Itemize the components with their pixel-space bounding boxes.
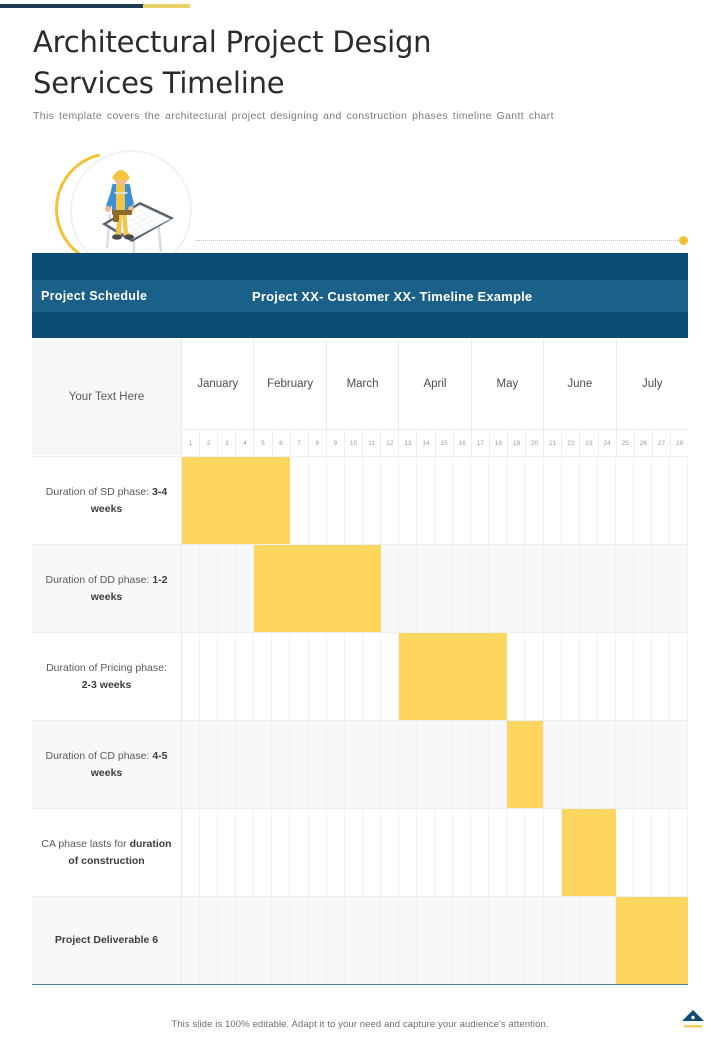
- gantt-week-cell: 20: [526, 430, 544, 456]
- gantt-track-cell: [254, 897, 272, 984]
- gantt-row-label: Project Deliverable 6: [32, 896, 182, 984]
- gantt-track-cell: [544, 545, 562, 632]
- gantt-track-cell: [580, 633, 598, 720]
- gantt-track-cell: [453, 809, 471, 896]
- accent-segment-gold: [143, 4, 190, 8]
- gantt-track-cell: [435, 897, 453, 984]
- gantt-week-cell: 5: [254, 430, 272, 456]
- gantt-track-cell: [634, 545, 652, 632]
- gantt-track-cell: [471, 897, 489, 984]
- connector-dashes: [196, 240, 680, 241]
- gantt-track-cell: [616, 633, 634, 720]
- gantt-week-cell: 13: [399, 430, 417, 456]
- gantt-track-cell: [381, 545, 399, 632]
- gantt-track-cell: [363, 457, 381, 544]
- gantt-track-cell: [363, 809, 381, 896]
- gantt-row-label-text: Duration of DD phase:: [46, 574, 150, 586]
- gantt-track-cell: [345, 633, 363, 720]
- gantt-track-cell: [580, 897, 598, 984]
- gantt-track-cell: [489, 721, 507, 808]
- gantt-week-cell: 26: [635, 430, 653, 456]
- gantt-track-cell: [634, 633, 652, 720]
- gantt-month-cell: July: [617, 339, 688, 429]
- gantt-row: Duration of CD phase: 4-5 weeks: [32, 720, 688, 808]
- gantt-track-cell: [345, 897, 363, 984]
- gantt-track-cell: [254, 721, 272, 808]
- gantt-track-cell: [580, 545, 598, 632]
- gantt-track-cell: [363, 633, 381, 720]
- gantt-week-cell: 27: [653, 430, 671, 456]
- gantt-week-cell: 9: [327, 430, 345, 456]
- gantt-track-cell: [562, 633, 580, 720]
- gantt-track-cell: [218, 897, 236, 984]
- gantt-track-cell: [345, 457, 363, 544]
- gantt-week-cell: 17: [472, 430, 490, 456]
- gantt-track-cell: [200, 633, 218, 720]
- gantt-body: Duration of SD phase: 3-4 weeksDuration …: [32, 456, 688, 985]
- gantt-track-cell: [489, 545, 507, 632]
- gantt-month-cell: April: [399, 339, 471, 429]
- gantt-track-cell: [562, 545, 580, 632]
- accent-segment-navy: [0, 4, 143, 8]
- gantt-track-cell: [290, 897, 308, 984]
- gantt-row-track: [182, 896, 688, 984]
- gantt-track-cell: [309, 721, 327, 808]
- gantt-track-cell: [652, 545, 670, 632]
- gantt-track-cell: [598, 633, 616, 720]
- gantt-track-cell: [544, 897, 562, 984]
- gantt-track-cell: [525, 809, 543, 896]
- gantt-chart: Your Text Here JanuaryFebruaryMarchApril…: [32, 339, 688, 985]
- gantt-track-cell: [507, 545, 525, 632]
- gantt-track-cell: [489, 809, 507, 896]
- gantt-track-cell: [616, 721, 634, 808]
- gantt-track-cell: [290, 809, 308, 896]
- gantt-track-cell: [652, 633, 670, 720]
- gantt-track-cell: [670, 721, 688, 808]
- gantt-track-cell: [309, 633, 327, 720]
- gantt-track-cell: [182, 633, 200, 720]
- gantt-track-cell: [290, 721, 308, 808]
- top-accent-bar: [0, 4, 190, 8]
- gantt-week-cell: 16: [454, 430, 472, 456]
- gantt-bar[interactable]: [507, 721, 543, 808]
- gantt-track-cell: [218, 809, 236, 896]
- gantt-track-cell: [272, 721, 290, 808]
- gantt-track-cell: [471, 721, 489, 808]
- gantt-row-label: Duration of CD phase: 4-5 weeks: [32, 720, 182, 808]
- gantt-track-cell: [309, 897, 327, 984]
- gantt-track-cell: [182, 809, 200, 896]
- gantt-track-cell: [345, 721, 363, 808]
- footer-note: This slide is 100% editable. Adapt it to…: [0, 1019, 720, 1030]
- gantt-week-cell: 19: [508, 430, 526, 456]
- gantt-row-label-text: Duration of Pricing phase:: [46, 662, 167, 674]
- gantt-track-cell: [453, 721, 471, 808]
- gantt-track-cell: [327, 809, 345, 896]
- gantt-month-cell: May: [472, 339, 544, 429]
- gantt-track-cell: [218, 633, 236, 720]
- gantt-track-cell: [381, 633, 399, 720]
- gantt-track-cell: [453, 897, 471, 984]
- gantt-track-cell: [200, 809, 218, 896]
- gantt-track-cell: [525, 457, 543, 544]
- page-title-line-1: Architectural Project Design: [33, 25, 431, 59]
- gantt-track-cell: [598, 545, 616, 632]
- gantt-row-track: [182, 632, 688, 720]
- gantt-time-header: JanuaryFebruaryMarchAprilMayJuneJuly 123…: [182, 339, 688, 456]
- gantt-track-cell: [525, 633, 543, 720]
- gantt-track-cell: [507, 457, 525, 544]
- gantt-track-cell: [670, 809, 688, 896]
- banner-project-schedule-label: Project Schedule: [32, 289, 252, 303]
- gantt-week-cell: 18: [490, 430, 508, 456]
- gantt-track-cell: [634, 457, 652, 544]
- gantt-track-cell: [670, 545, 688, 632]
- gantt-track-cell: [670, 457, 688, 544]
- gantt-week-cell: 28: [671, 430, 688, 456]
- gantt-month-cell: June: [544, 339, 616, 429]
- gantt-track-cell: [562, 721, 580, 808]
- gantt-month-cell: January: [182, 339, 254, 429]
- gantt-track-cell: [399, 809, 417, 896]
- gantt-row-label-text: Duration of CD phase:: [46, 750, 150, 762]
- gantt-track-cell: [399, 457, 417, 544]
- gantt-track-cell: [453, 545, 471, 632]
- gantt-track-cell: [218, 721, 236, 808]
- gantt-week-cell: 25: [617, 430, 635, 456]
- gantt-track-cell: [471, 457, 489, 544]
- gantt-track-cell: [363, 897, 381, 984]
- gantt-track-cell: [580, 457, 598, 544]
- gantt-track-cell: [616, 457, 634, 544]
- gantt-row-label-text: CA phase lasts for: [41, 838, 126, 850]
- page-subtitle: This template covers the architectural p…: [33, 110, 690, 122]
- gantt-week-cell: 7: [291, 430, 309, 456]
- gantt-bar[interactable]: [562, 809, 616, 896]
- gantt-track-cell: [290, 633, 308, 720]
- gantt-week-cell: 21: [544, 430, 562, 456]
- gantt-track-cell: [417, 809, 435, 896]
- gantt-track-cell: [200, 897, 218, 984]
- gantt-track-cell: [272, 809, 290, 896]
- gantt-track-cell: [489, 457, 507, 544]
- illustration: [55, 150, 215, 260]
- gantt-week-cell: 4: [236, 430, 254, 456]
- gantt-track-cell: [309, 457, 327, 544]
- gantt-row: Project Deliverable 6: [32, 896, 688, 984]
- gantt-track-cell: [417, 897, 435, 984]
- gantt-bar[interactable]: [399, 633, 507, 720]
- gantt-track-cell: [544, 809, 562, 896]
- gantt-track-cell: [218, 545, 236, 632]
- gantt-track-cell: [236, 545, 254, 632]
- gantt-track-cell: [453, 457, 471, 544]
- gantt-track-cell: [236, 809, 254, 896]
- gantt-week-cell: 1: [182, 430, 200, 456]
- gantt-track-cell: [652, 721, 670, 808]
- banner-strip: Project Schedule Project XX- Customer XX…: [32, 280, 688, 312]
- gantt-track-cell: [381, 721, 399, 808]
- gantt-track-cell: [525, 545, 543, 632]
- gantt-week-cell: 15: [436, 430, 454, 456]
- gantt-track-cell: [236, 721, 254, 808]
- gantt-track-cell: [598, 457, 616, 544]
- gantt-track-cell: [200, 545, 218, 632]
- gantt-row-label: Duration of Pricing phase: 2-3 weeks: [32, 632, 182, 720]
- gantt-track-cell: [200, 721, 218, 808]
- gantt-track-cell: [254, 809, 272, 896]
- gantt-track-cell: [254, 633, 272, 720]
- gantt-track-cell: [598, 897, 616, 984]
- gantt-row-label: Duration of DD phase: 1-2 weeks: [32, 544, 182, 632]
- gantt-week-cell: 11: [363, 430, 381, 456]
- gantt-week-cell: 10: [345, 430, 363, 456]
- gantt-row-label: CA phase lasts for duration of construct…: [32, 808, 182, 896]
- gantt-track-cell: [182, 545, 200, 632]
- gantt-week-cell: 22: [562, 430, 580, 456]
- connector-line: [196, 240, 680, 242]
- gantt-track-cell: [345, 809, 363, 896]
- gantt-track-cell: [435, 809, 453, 896]
- gantt-row-track: [182, 456, 688, 544]
- gantt-months-row: JanuaryFebruaryMarchAprilMayJuneJuly: [182, 339, 688, 429]
- gantt-track-cell: [182, 721, 200, 808]
- gantt-row: Duration of Pricing phase: 2-3 weeks: [32, 632, 688, 720]
- gantt-week-cell: 24: [599, 430, 617, 456]
- gantt-track-cell: [525, 897, 543, 984]
- gantt-track-cell: [327, 457, 345, 544]
- gantt-track-cell: [399, 897, 417, 984]
- gantt-week-cell: 8: [309, 430, 327, 456]
- gantt-track-cell: [598, 721, 616, 808]
- gantt-track-cell: [399, 545, 417, 632]
- gantt-row: Duration of DD phase: 1-2 weeks: [32, 544, 688, 632]
- gantt-bar[interactable]: [254, 545, 381, 632]
- page-title-line-2: Services Timeline: [33, 66, 284, 100]
- gantt-track-cell: [435, 545, 453, 632]
- gantt-track-cell: [327, 633, 345, 720]
- gantt-track-cell: [182, 897, 200, 984]
- gantt-row: Duration of SD phase: 3-4 weeks: [32, 456, 688, 544]
- gantt-track-cell: [634, 721, 652, 808]
- gantt-track-cell: [562, 457, 580, 544]
- gantt-track-cell: [616, 809, 634, 896]
- gantt-track-cell: [471, 545, 489, 632]
- gantt-track-cell: [634, 809, 652, 896]
- gantt-week-cell: 23: [580, 430, 598, 456]
- gantt-track-cell: [381, 897, 399, 984]
- page-title: Architectural Project Design Services Ti…: [33, 22, 690, 104]
- gantt-track-cell: [507, 897, 525, 984]
- gantt-track-cell: [489, 897, 507, 984]
- gantt-track-cell: [417, 545, 435, 632]
- gantt-week-cell: 2: [200, 430, 218, 456]
- gantt-track-cell: [417, 721, 435, 808]
- gantt-row: CA phase lasts for duration of construct…: [32, 808, 688, 896]
- gantt-track-cell: [399, 721, 417, 808]
- gantt-week-cell: 12: [381, 430, 399, 456]
- gantt-row-track: [182, 720, 688, 808]
- gantt-weeks-row: 1234567891011121314151617181920212223242…: [182, 429, 688, 456]
- gantt-track-cell: [435, 721, 453, 808]
- gantt-label-column-header: Your Text Here: [32, 339, 182, 455]
- gantt-track-cell: [236, 897, 254, 984]
- gantt-track-cell: [272, 897, 290, 984]
- gantt-track-cell: [652, 809, 670, 896]
- gantt-week-cell: 3: [218, 430, 236, 456]
- banner-timeline-title: Project XX- Customer XX- Timeline Exampl…: [252, 289, 688, 304]
- connector-end-dot: [679, 236, 688, 245]
- gantt-track-cell: [272, 633, 290, 720]
- gantt-track-cell: [580, 721, 598, 808]
- gantt-header: Your Text Here JanuaryFebruaryMarchApril…: [32, 339, 688, 456]
- gantt-track-cell: [363, 721, 381, 808]
- gantt-track-cell: [544, 721, 562, 808]
- gantt-row-label: Duration of SD phase: 3-4 weeks: [32, 456, 182, 544]
- gantt-track-cell: [236, 633, 254, 720]
- gantt-row-track: [182, 544, 688, 632]
- gantt-track-cell: [327, 897, 345, 984]
- gantt-track-cell: [544, 633, 562, 720]
- gantt-week-cell: 14: [417, 430, 435, 456]
- gantt-month-cell: March: [327, 339, 399, 429]
- header: Architectural Project Design Services Ti…: [33, 22, 690, 122]
- gantt-track-cell: [417, 457, 435, 544]
- gantt-track-cell: [616, 545, 634, 632]
- gantt-track-cell: [435, 457, 453, 544]
- gantt-track-cell: [309, 809, 327, 896]
- gantt-row-label-emphasis: Project Deliverable 6: [55, 934, 158, 946]
- gantt-track-cell: [670, 633, 688, 720]
- gantt-row-label-emphasis: 2-3 weeks: [82, 679, 132, 691]
- gantt-track-cell: [290, 457, 308, 544]
- gantt-track-cell: [471, 809, 489, 896]
- gantt-week-cell: 6: [273, 430, 291, 456]
- brand-triangle-logo: [680, 1006, 706, 1032]
- gantt-bar[interactable]: [182, 457, 290, 544]
- gantt-month-cell: February: [254, 339, 326, 429]
- gantt-track-cell: [507, 809, 525, 896]
- gantt-row-label-text: Duration of SD phase:: [46, 486, 149, 498]
- timeline-banner: Project Schedule Project XX- Customer XX…: [32, 253, 688, 338]
- gantt-bar[interactable]: [616, 897, 688, 984]
- gantt-track-cell: [544, 457, 562, 544]
- gantt-track-cell: [507, 633, 525, 720]
- gantt-track-cell: [381, 809, 399, 896]
- gantt-track-cell: [381, 457, 399, 544]
- gantt-row-track: [182, 808, 688, 896]
- gantt-track-cell: [562, 897, 580, 984]
- gantt-track-cell: [652, 457, 670, 544]
- gantt-track-cell: [327, 721, 345, 808]
